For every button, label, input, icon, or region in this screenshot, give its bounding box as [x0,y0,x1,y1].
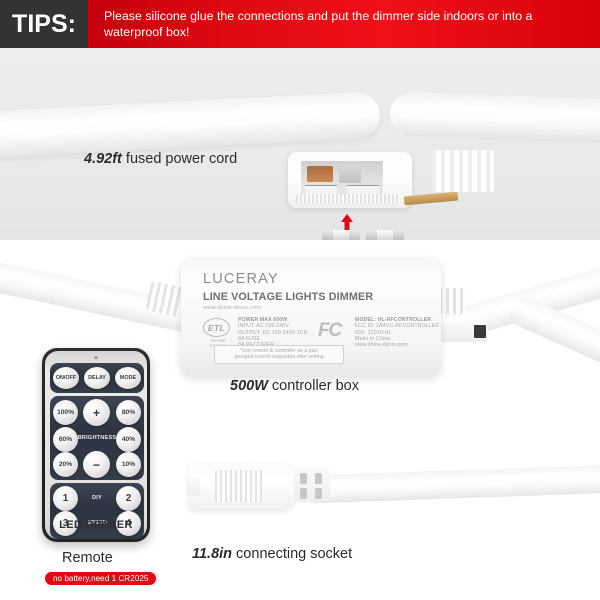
remote-brand-label: LED DIMMER [45,519,147,531]
fcc-icon: FC [318,320,341,342]
controller-label-text: controller box [268,378,359,394]
power-cord-length: 4.92ft [84,151,122,167]
socket-slot-1 [300,473,307,484]
spare-fuse-1 [322,230,360,240]
tips-message-bar: Please silicone glue the connections and… [88,0,600,48]
controller-specs-left: POWER MAX 600W INPUT: AC 100-240V OUTPUT… [238,317,308,348]
power-cord-label: 4.92ft fused power cord [84,151,237,167]
controller-box-label: 500W controller box [230,378,359,394]
remote-pad-top: ON/OFF DELAY MODE [50,363,144,393]
etl-certification-mark: ETL Intertek 5020962 [203,318,233,348]
etl-label: ETL [208,323,225,333]
controller-specs-right: MODEL: HL-RFCONTROLLER FCC ID: 2A4VG-RFC… [355,317,439,348]
socket-grip-ribs [215,470,263,502]
remote-button-80[interactable]: 80% [116,400,141,425]
products-section: LUCERAY LINE VOLTAGE LIGHTS DIMMER www.s… [0,240,600,600]
etl-icon: ETL [203,318,230,337]
remote-diy-label: DIY [80,495,114,501]
remote-button-1[interactable]: 1 [53,486,78,511]
remote-label: Remote [62,550,113,566]
power-cord-section: 4.92ft fused power cord Much Safer Fused… [0,48,600,240]
controller-pairing-note: *Use remote & controller as a pair, grou… [214,345,344,364]
tips-message-text: Please silicone glue the connections and… [104,8,586,40]
controller-dc-plug [440,322,488,342]
plug-contact-left [305,185,337,194]
remote-button-60[interactable]: 60% [53,427,78,452]
power-cord-cable-right [389,91,600,144]
socket-slot-2 [315,473,322,484]
pairing-note-line-2: grouped control supported after setting [218,354,340,360]
plug-contact-right [347,185,379,194]
remote-button-onoff[interactable]: ON/OFF [53,367,79,389]
remote-pad-brightness: 100% + 80% 60% BRIGHTNESS 40% 20% − 10% [50,396,144,480]
controller-brand: LUCERAY [203,271,279,287]
spec-output: OUTPUT: DC 100-240V 1CH [238,330,308,336]
tips-banner: TIPS: Please silicone glue the connectio… [0,0,600,48]
remote-button-100[interactable]: 100% [53,400,78,425]
remote-button-decrease[interactable]: − [83,451,110,478]
controller-title: LINE VOLTAGE LIGHTS DIMMER [203,291,373,303]
internal-fuse-glass [339,165,361,183]
socket-cable [300,464,600,503]
remote-button-2[interactable]: 2 [116,486,141,511]
tips-tag-label: TIPS: [12,10,76,39]
remote-button-delay[interactable]: DELAY [84,367,110,389]
remote-brightness-label: BRIGHTNESS [76,435,118,441]
infographic-page: TIPS: Please silicone glue the connectio… [0,0,600,600]
spec-website: www.shine-decor.com [355,342,439,348]
ir-led-icon [95,356,98,359]
plug-grip-ribs [296,194,400,204]
socket-side-tab [186,476,200,496]
remote-button-mode[interactable]: MODE [115,367,141,389]
spec-fcc-id: FCC ID: 2A4VG-RFCONTROLLER [355,323,439,329]
power-cord-label-text: fused power cord [122,151,237,167]
remote-face: ON/OFF DELAY MODE 100% + 80% 60% BRIGHTN… [45,351,147,539]
power-cord-cable [0,91,381,159]
socket-label: 11.8in connecting socket [192,546,352,562]
socket-label-text: connecting socket [232,546,352,562]
remote-button-10[interactable]: 10% [116,452,141,477]
remote-button-40[interactable]: 40% [116,427,141,452]
socket-slot-4 [315,488,322,499]
remote-control: ON/OFF DELAY MODE 100% + 80% 60% BRIGHTN… [42,348,150,542]
remote-battery-badge: no battery,need 1 CR2025 [44,571,157,586]
controller-url: www.shine-decor.com [203,305,261,311]
plug-connector-tabs [432,150,494,192]
remote-button-20[interactable]: 20% [53,452,78,477]
socket-length: 11.8in [192,546,232,562]
remote-button-increase[interactable]: + [83,399,110,426]
internal-fuse-copper [307,166,333,182]
socket-slot-3 [300,488,307,499]
controller-wattage: 500W [230,378,268,394]
tips-tag: TIPS: [0,0,88,48]
spare-fuse-2 [366,230,404,240]
